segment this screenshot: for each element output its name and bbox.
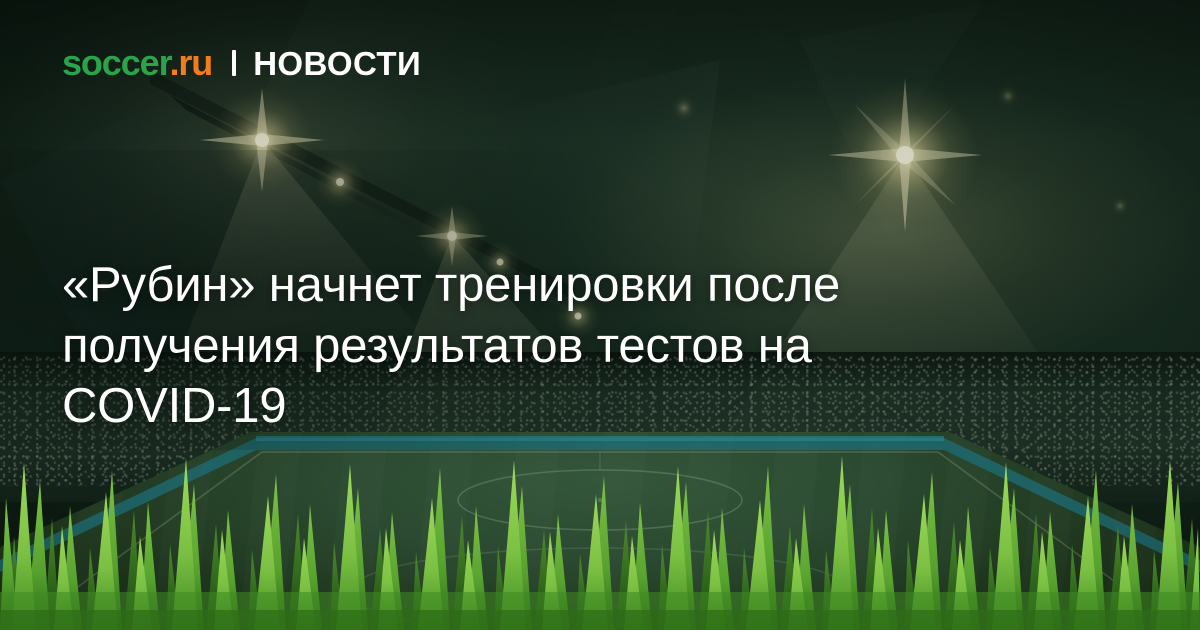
news-share-card: soccer.ru НОВОСТИ «Рубин» начнет трениро… — [0, 0, 1200, 630]
foreground-grass — [0, 440, 1200, 630]
logo-text-soccer: soccer — [62, 42, 170, 83]
page-title: «Рубин» начнет тренировки после получени… — [62, 255, 1072, 437]
logo-text-ru: .ru — [170, 42, 213, 83]
site-logo[interactable]: soccer.ru — [62, 45, 212, 81]
header: soccer.ru НОВОСТИ — [62, 45, 421, 81]
headline-line-1: «Рубин» начнет тренировки после — [62, 255, 1072, 316]
section-label: НОВОСТИ — [253, 47, 421, 80]
header-divider — [232, 50, 236, 76]
headline-line-3: COVID-19 — [62, 376, 1072, 437]
headline-line-2: получения результатов тестов на — [62, 316, 1072, 377]
